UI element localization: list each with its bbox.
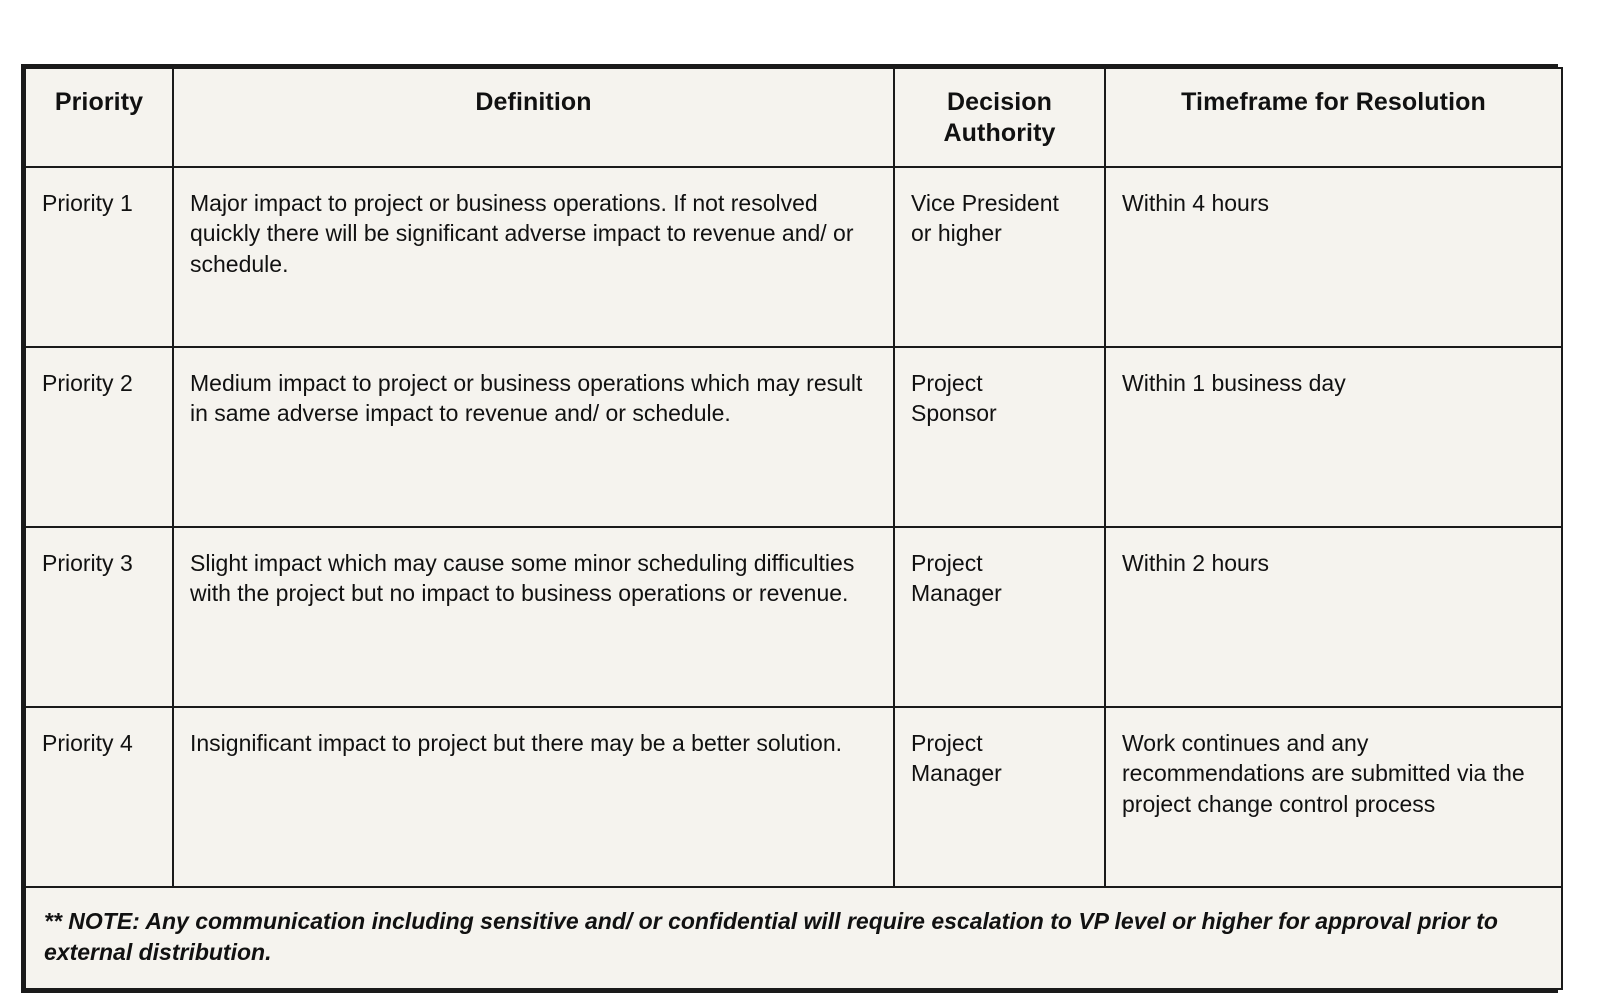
table-row: Priority 2 Medium impact to project or b… bbox=[25, 347, 1562, 527]
priority-table-container: Priority Definition Decision Authority T… bbox=[21, 64, 1558, 993]
cell-decision-authority: Project Manager bbox=[894, 707, 1105, 887]
cell-decision-authority-line-1: Project bbox=[911, 368, 1088, 398]
cell-decision-authority-line-2: Manager bbox=[911, 758, 1088, 788]
table-note-row: ** NOTE: Any communication including sen… bbox=[25, 887, 1562, 989]
table-footnote: ** NOTE: Any communication including sen… bbox=[25, 887, 1562, 989]
table-body: Priority 1 Major impact to project or bu… bbox=[25, 167, 1562, 989]
cell-decision-authority-line-2: Manager bbox=[911, 578, 1088, 608]
table-row: Priority 1 Major impact to project or bu… bbox=[25, 167, 1562, 347]
cell-timeframe: Within 4 hours bbox=[1105, 167, 1562, 347]
column-header-decision-authority-line-1: Decision bbox=[907, 87, 1092, 118]
column-header-definition: Definition bbox=[173, 68, 894, 167]
cell-decision-authority-line-2: Sponsor bbox=[911, 398, 1088, 428]
table-footnote-text: ** NOTE: Any communication including sen… bbox=[44, 906, 1543, 968]
cell-decision-authority-line-1: Vice President bbox=[911, 188, 1088, 218]
column-header-decision-authority-line-2: Authority bbox=[907, 118, 1092, 149]
cell-definition: Medium impact to project or business ope… bbox=[173, 347, 894, 527]
cell-timeframe: Within 2 hours bbox=[1105, 527, 1562, 707]
cell-definition: Slight impact which may cause some minor… bbox=[173, 527, 894, 707]
cell-decision-authority-line-2: or higher bbox=[911, 218, 1088, 248]
cell-decision-authority: Vice President or higher bbox=[894, 167, 1105, 347]
table-header: Priority Definition Decision Authority T… bbox=[25, 68, 1562, 167]
cell-priority: Priority 2 bbox=[25, 347, 173, 527]
page-root: Priority Definition Decision Authority T… bbox=[0, 0, 1600, 900]
cell-decision-authority: Project Sponsor bbox=[894, 347, 1105, 527]
column-header-priority: Priority bbox=[25, 68, 173, 167]
cell-timeframe: Work continues and any recommendations a… bbox=[1105, 707, 1562, 887]
table-row: Priority 4 Insignificant impact to proje… bbox=[25, 707, 1562, 887]
column-header-decision-authority: Decision Authority bbox=[894, 68, 1105, 167]
priority-definition-table: Priority Definition Decision Authority T… bbox=[24, 67, 1563, 990]
cell-definition: Major impact to project or business oper… bbox=[173, 167, 894, 347]
cell-priority: Priority 1 bbox=[25, 167, 173, 347]
cell-decision-authority-line-1: Project bbox=[911, 548, 1088, 578]
cell-priority: Priority 3 bbox=[25, 527, 173, 707]
cell-decision-authority-line-1: Project bbox=[911, 728, 1088, 758]
column-header-timeframe-for-resolution: Timeframe for Resolution bbox=[1105, 68, 1562, 167]
cell-definition: Insignificant impact to project but ther… bbox=[173, 707, 894, 887]
cell-timeframe: Within 1 business day bbox=[1105, 347, 1562, 527]
cell-decision-authority: Project Manager bbox=[894, 527, 1105, 707]
header-row: Priority Definition Decision Authority T… bbox=[25, 68, 1562, 167]
table-row: Priority 3 Slight impact which may cause… bbox=[25, 527, 1562, 707]
cell-priority: Priority 4 bbox=[25, 707, 173, 887]
